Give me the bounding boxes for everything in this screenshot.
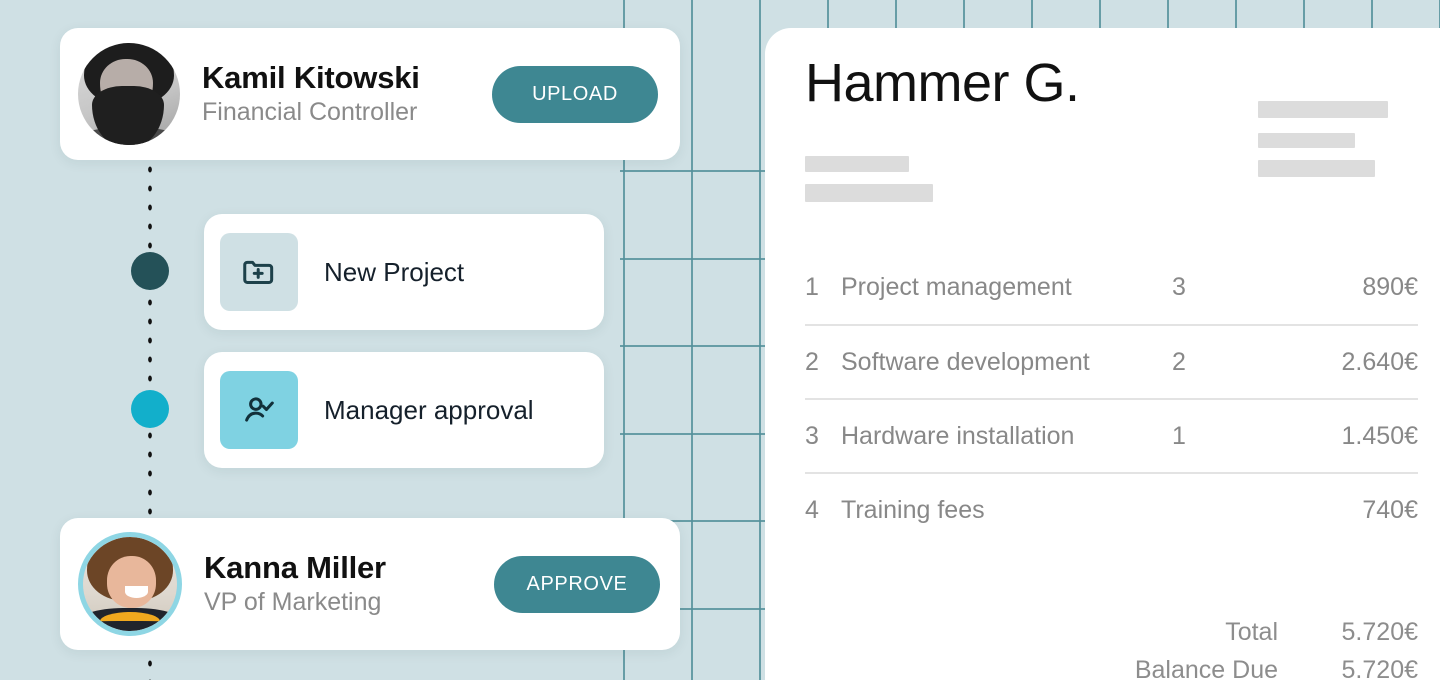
item-index: 2 — [805, 348, 841, 377]
item-index: 4 — [805, 496, 841, 525]
user-check-icon — [220, 371, 298, 449]
item-description: Project management — [841, 273, 1172, 302]
table-row: 2 Software development 2 2.640€ — [805, 324, 1418, 398]
item-amount: 740€ — [1268, 496, 1418, 525]
invoice-header: Hammer G. — [805, 56, 1410, 206]
upload-button[interactable]: UPLOAD — [492, 66, 658, 123]
person-role: VP of Marketing — [204, 587, 494, 617]
placeholder-bar-left-2 — [805, 184, 933, 202]
person-card-kanna-miller[interactable]: Kanna Miller VP of Marketing APPROVE — [60, 518, 680, 650]
person-role: Financial Controller — [202, 97, 492, 127]
item-description: Training fees — [841, 496, 1172, 525]
avatar-photo-color — [83, 537, 177, 631]
avatar-ring — [78, 532, 182, 636]
item-index: 3 — [805, 422, 841, 451]
item-index: 1 — [805, 273, 841, 302]
table-row: 1 Project management 3 890€ — [805, 250, 1418, 324]
placeholder-bar-right-3 — [1258, 160, 1375, 177]
folder-plus-icon — [220, 233, 298, 311]
balance-due-label: Balance Due — [1135, 656, 1278, 680]
avatar-photo-grayscale — [78, 43, 180, 145]
item-amount: 2.640€ — [1268, 348, 1418, 377]
item-amount: 1.450€ — [1268, 422, 1418, 451]
step-card-new-project[interactable]: New Project — [204, 214, 604, 330]
placeholder-bar-left-1 — [805, 156, 909, 172]
approve-button[interactable]: APPROVE — [494, 556, 660, 613]
person-card-kamil-kitowski[interactable]: Kamil Kitowski Financial Controller UPLO… — [60, 28, 680, 160]
total-value: 5.720€ — [1278, 618, 1418, 647]
total-row: Total 5.720€ — [805, 613, 1418, 651]
timeline-node-new-project[interactable] — [131, 252, 169, 290]
table-row: 3 Hardware installation 1 1.450€ — [805, 398, 1418, 472]
item-amount: 890€ — [1268, 273, 1418, 302]
illustration-canvas: Hammer G. 1 Project management 3 890€ 2 … — [0, 0, 1440, 680]
step-label: Manager approval — [324, 395, 534, 426]
step-card-manager-approval[interactable]: Manager approval — [204, 352, 604, 468]
balance-due-row: Balance Due 5.720€ — [805, 651, 1418, 680]
invoice-panel: Hammer G. 1 Project management 3 890€ 2 … — [765, 28, 1440, 680]
person-name: Kanna Miller — [204, 551, 494, 586]
person-name: Kamil Kitowski — [202, 61, 492, 96]
item-quantity: 1 — [1172, 422, 1268, 451]
timeline-node-manager-approval[interactable] — [131, 390, 169, 428]
invoice-line-items: 1 Project management 3 890€ 2 Software d… — [805, 250, 1418, 546]
placeholder-bar-right-2 — [1258, 133, 1355, 148]
item-description: Hardware installation — [841, 422, 1172, 451]
item-description: Software development — [841, 348, 1172, 377]
item-quantity: 3 — [1172, 273, 1268, 302]
total-label: Total — [1225, 618, 1278, 647]
table-row: 4 Training fees 740€ — [805, 472, 1418, 546]
step-label: New Project — [324, 257, 464, 288]
balance-due-value: 5.720€ — [1278, 656, 1418, 680]
invoice-totals: Total 5.720€ Balance Due 5.720€ — [805, 613, 1418, 680]
item-quantity: 2 — [1172, 348, 1268, 377]
placeholder-bar-right-1 — [1258, 101, 1388, 118]
